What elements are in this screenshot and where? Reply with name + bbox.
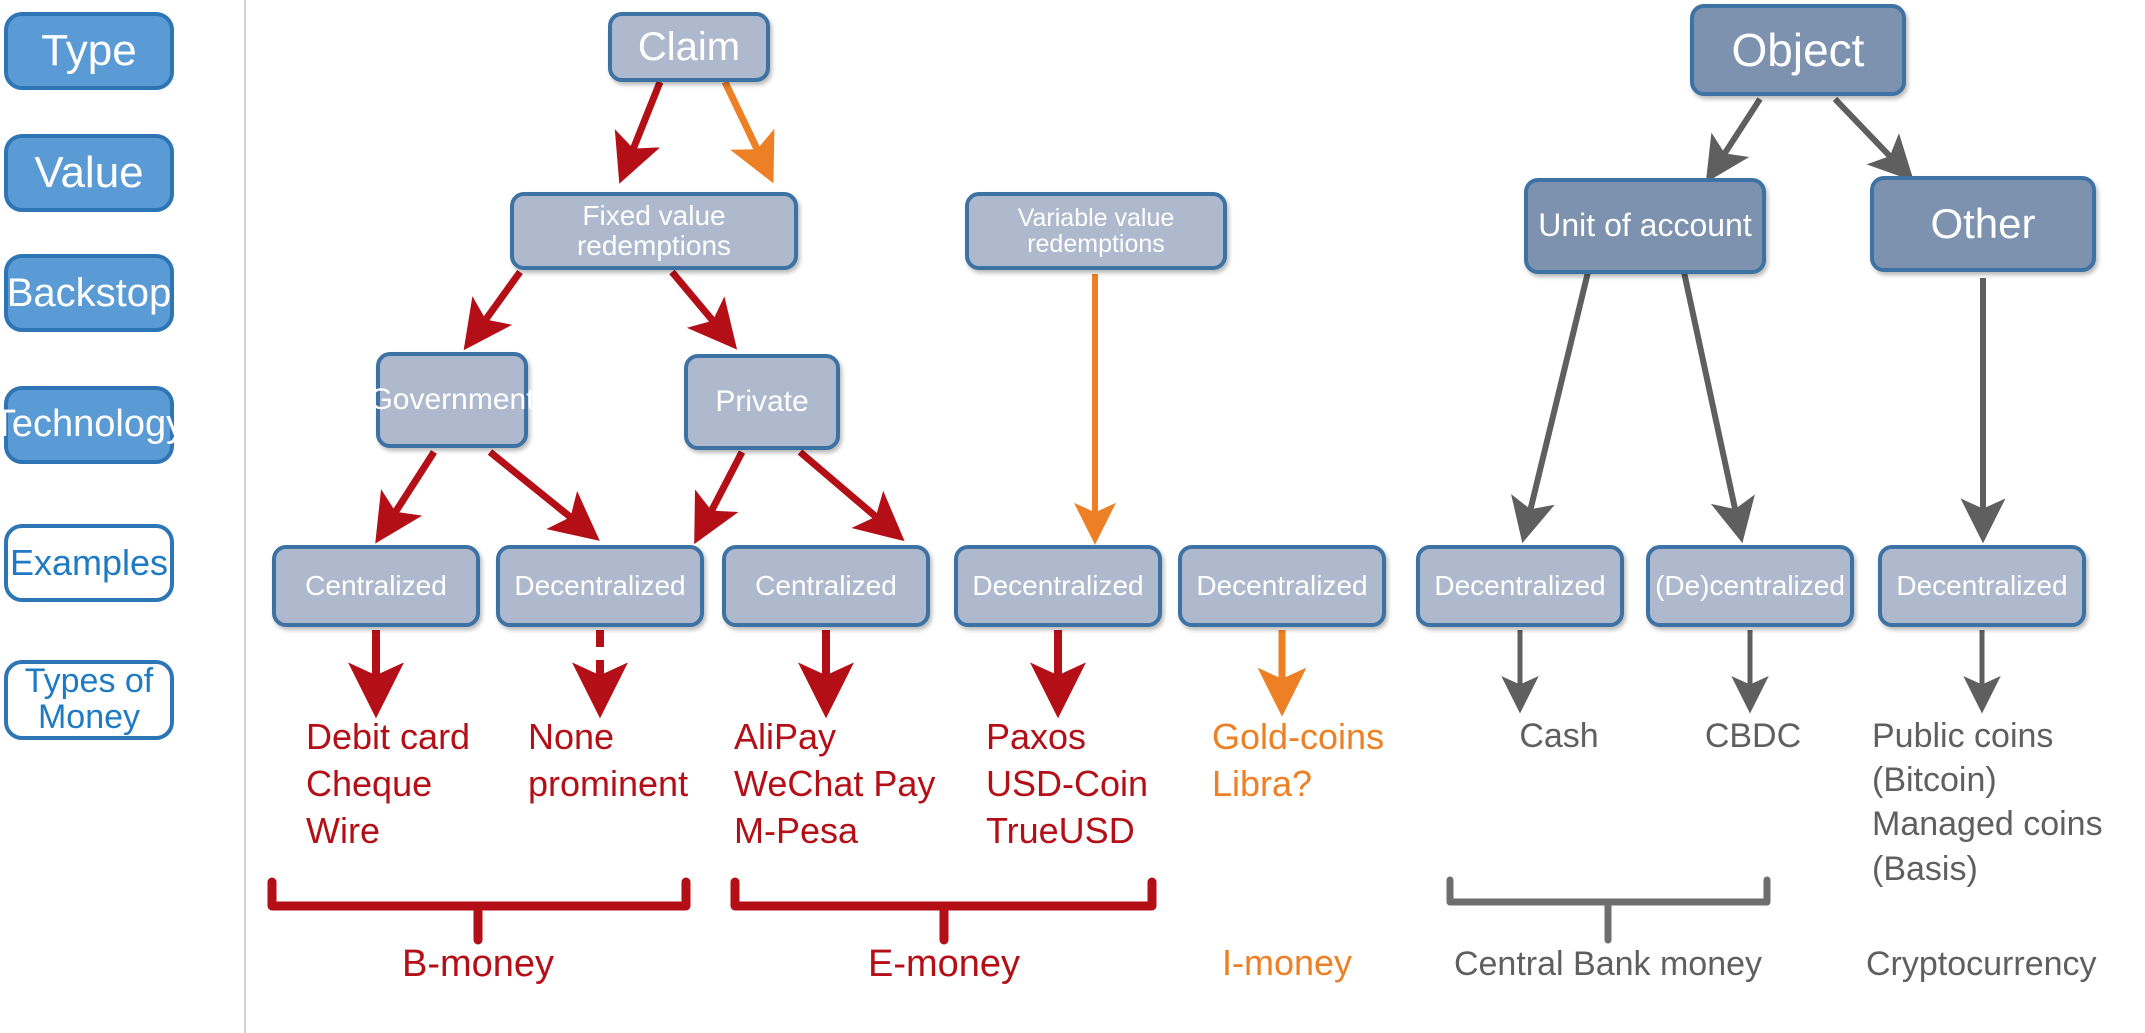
arrow-private-to-decentralized bbox=[800, 452, 895, 533]
arrow-claim-to-fixed bbox=[624, 82, 660, 172]
arrow-unit-to-decentralized bbox=[1525, 272, 1588, 532]
node-technology-decentralized-unit[interactable]: Decentralized bbox=[1416, 545, 1624, 627]
node-variable-value-redemptions[interactable]: Variable value redemptions bbox=[965, 192, 1227, 270]
money-type-cryptocurrency: Cryptocurrency bbox=[1866, 942, 2145, 986]
row-label-examples[interactable]: Examples bbox=[4, 524, 174, 602]
example-gold-coins: Gold-coins Libra? bbox=[1212, 714, 1442, 808]
row-label-technology[interactable]: Technology bbox=[4, 386, 174, 464]
example-cash: Cash bbox=[1484, 714, 1634, 758]
row-label-backstop[interactable]: Backstop bbox=[4, 254, 174, 332]
node-claim[interactable]: Claim bbox=[608, 12, 770, 82]
node-private[interactable]: Private bbox=[684, 354, 840, 450]
money-type-e-money: E-money bbox=[834, 940, 1054, 989]
node-technology-de-centralized-unit[interactable]: (De)centralized bbox=[1646, 545, 1854, 627]
example-cbdc: CBDC bbox=[1678, 714, 1828, 758]
arrow-government-to-decentralized bbox=[490, 452, 590, 533]
arrow-object-to-other bbox=[1835, 99, 1906, 173]
node-other[interactable]: Other bbox=[1870, 176, 2096, 272]
node-government[interactable]: Government bbox=[376, 352, 528, 448]
example-alipay: AliPay WeChat Pay M-Pesa bbox=[734, 714, 984, 854]
node-technology-decentralized-variable[interactable]: Decentralized bbox=[1178, 545, 1386, 627]
node-object[interactable]: Object bbox=[1690, 4, 1906, 96]
money-type-central-bank-money: Central Bank money bbox=[1438, 942, 1778, 986]
arrow-fixed-to-government bbox=[471, 272, 520, 340]
money-type-b-money: B-money bbox=[368, 940, 588, 989]
example-debit-card: Debit card Cheque Wire bbox=[306, 714, 536, 854]
diagram-canvas: Type Value Backstop Technology Examples … bbox=[0, 0, 2145, 1033]
connector-layer bbox=[0, 0, 2145, 1033]
node-technology-decentralized-government[interactable]: Decentralized bbox=[496, 545, 704, 627]
example-public-coins: Public coins (Bitcoin) Managed coins (Ba… bbox=[1872, 714, 2145, 891]
node-technology-decentralized-other[interactable]: Decentralized bbox=[1878, 545, 2086, 627]
row-label-type[interactable]: Type bbox=[4, 12, 174, 90]
sidebar-divider bbox=[244, 0, 246, 1033]
node-fixed-value-redemptions[interactable]: Fixed value redemptions bbox=[510, 192, 798, 270]
brace-e-money bbox=[735, 882, 1152, 940]
node-technology-centralized-private[interactable]: Centralized bbox=[722, 545, 930, 627]
node-technology-decentralized-private[interactable]: Decentralized bbox=[954, 545, 1162, 627]
arrow-object-to-unit bbox=[1712, 99, 1760, 173]
arrow-unit-to-de-centralized bbox=[1684, 272, 1740, 532]
row-label-types-of-money[interactable]: Types of Money bbox=[4, 660, 174, 740]
arrow-government-to-centralized bbox=[382, 452, 434, 533]
node-unit-of-account[interactable]: Unit of account bbox=[1524, 178, 1766, 274]
example-none-prominent: None prominent bbox=[528, 714, 758, 808]
brace-central-bank-money bbox=[1450, 880, 1767, 940]
node-technology-centralized-government[interactable]: Centralized bbox=[272, 545, 480, 627]
example-paxos: Paxos USD-Coin TrueUSD bbox=[986, 714, 1216, 854]
money-type-i-money: I-money bbox=[1182, 940, 1392, 987]
row-label-value[interactable]: Value bbox=[4, 134, 174, 212]
arrow-fixed-to-private bbox=[672, 272, 729, 340]
arrow-private-to-centralized bbox=[700, 452, 742, 533]
brace-b-money bbox=[272, 882, 686, 940]
arrow-claim-to-variable bbox=[725, 82, 768, 172]
